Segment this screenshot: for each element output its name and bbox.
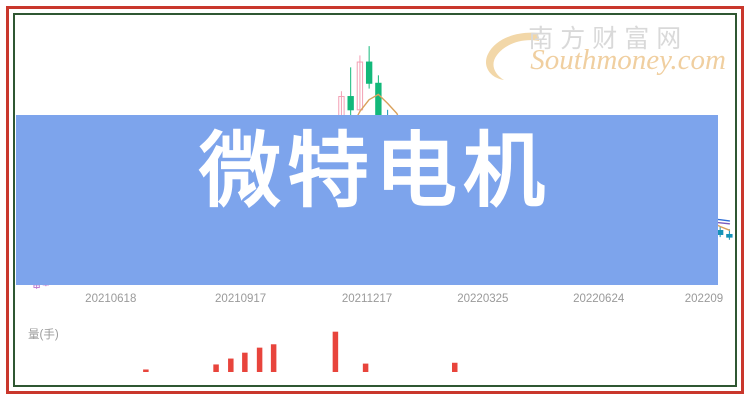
candlestick	[431, 179, 436, 196]
x-axis-tick: 20210917	[215, 293, 266, 305]
moving-average-line	[74, 94, 730, 281]
volume-pane: 量(手)	[16, 326, 718, 378]
candlestick	[108, 253, 113, 266]
candlestick	[413, 163, 418, 184]
volume-bar	[333, 332, 339, 372]
candlestick	[34, 284, 39, 289]
candlestick	[348, 67, 353, 115]
candlestick	[200, 219, 205, 234]
candlestick	[274, 187, 279, 202]
candlestick	[551, 208, 556, 219]
x-axis-tick: 20210618	[85, 293, 136, 305]
x-axis-tick: 202209	[685, 293, 723, 305]
x-axis-labels: 2021061820210917202112172022032520220624…	[16, 293, 718, 313]
candlestick	[570, 215, 575, 227]
volume-bar	[257, 348, 263, 372]
candlestick	[320, 120, 325, 154]
candlestick	[117, 240, 122, 256]
candlestick	[136, 242, 141, 249]
candlestick	[625, 220, 630, 231]
moving-average-line	[138, 129, 729, 267]
candlestick	[311, 144, 316, 171]
candlestick	[542, 212, 547, 224]
candlestick	[376, 75, 381, 125]
candlestick	[514, 208, 519, 220]
candlestick	[154, 236, 159, 245]
x-axis-tick: 20220325	[457, 293, 508, 305]
candlestick	[89, 262, 94, 273]
candlestick	[237, 205, 242, 218]
candlestick	[172, 232, 177, 247]
candlestick	[256, 197, 261, 212]
candlestick	[681, 205, 686, 221]
volume-bars	[16, 326, 718, 378]
candlestick	[265, 189, 270, 202]
candlestick	[293, 160, 298, 181]
candlestick	[52, 280, 57, 285]
candlestick	[671, 200, 676, 213]
volume-bar	[213, 364, 219, 372]
candlestick	[533, 209, 538, 222]
candlestick	[607, 216, 612, 225]
volume-bar	[228, 359, 234, 372]
x-axis-tick: 20220624	[573, 293, 624, 305]
candlestick	[385, 110, 390, 147]
candlestick	[690, 213, 695, 225]
candlestick	[477, 197, 482, 213]
candlestick	[699, 219, 704, 230]
candlestick	[662, 205, 667, 226]
candlestick	[246, 208, 251, 217]
x-axis-tick: 20211217	[342, 293, 392, 305]
candlestick	[422, 173, 427, 192]
candlestick	[71, 273, 76, 280]
candlestick	[366, 46, 371, 88]
candlestick	[126, 245, 131, 254]
candlestick	[717, 227, 722, 238]
volume-bar	[242, 353, 248, 372]
volume-bar	[271, 344, 277, 372]
volume-bar	[363, 364, 369, 372]
candlestick	[450, 192, 455, 208]
volume-bar	[143, 369, 149, 372]
candlestick	[283, 169, 288, 192]
candlestick	[302, 166, 307, 181]
volume-bar	[452, 363, 458, 372]
candlestick	[394, 134, 399, 166]
screenshot-root: 微特电机 南方财富网 Southmoney.com 20210618202109…	[0, 0, 750, 400]
candlestick	[330, 126, 335, 153]
candlestick	[43, 281, 48, 286]
candlestick	[62, 276, 67, 283]
candlestick	[597, 219, 602, 230]
candlestick	[505, 205, 510, 218]
candlestick	[99, 257, 104, 268]
candlestick	[357, 55, 362, 112]
